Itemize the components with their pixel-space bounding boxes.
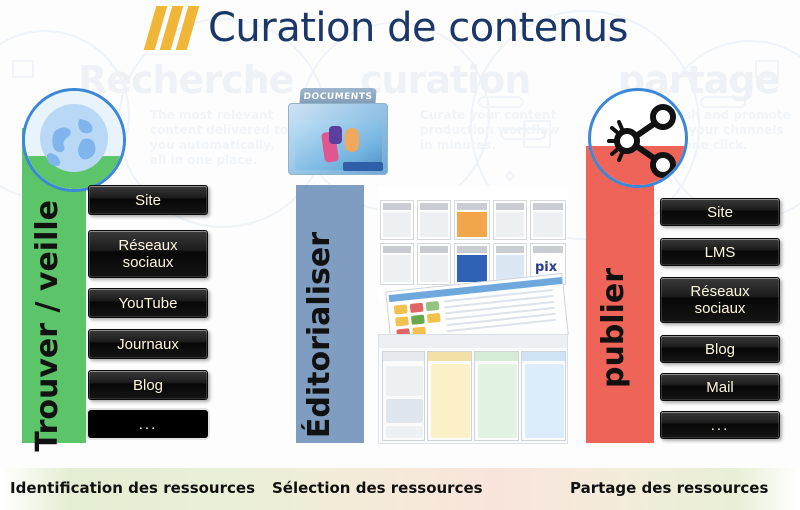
button-publier-more[interactable]: ... [660, 411, 780, 439]
board-bottom-header [379, 335, 567, 348]
button-label: Blog [701, 341, 739, 358]
documents-folder-icon: DOCUMENTS [286, 88, 390, 180]
button-trouver-blog[interactable]: Blog [88, 370, 208, 400]
share-nodes-icon [588, 88, 688, 188]
resource-board-collage: pix [378, 186, 568, 444]
slashes-logo-icon [150, 6, 198, 50]
button-label: Journaux [113, 336, 183, 353]
button-publier-reseaux-sociaux[interactable]: Réseaux sociaux [660, 277, 780, 323]
board-bottom [378, 334, 568, 444]
button-trouver-journaux[interactable]: Journaux [88, 329, 208, 359]
button-publier-mail[interactable]: Mail [660, 373, 780, 401]
button-label: Mail [702, 379, 738, 396]
button-label: YouTube [115, 295, 182, 312]
button-label: ... [707, 417, 734, 434]
button-publier-blog[interactable]: Blog [660, 335, 780, 363]
button-label: LMS [701, 244, 740, 261]
button-trouver-more[interactable]: ... [88, 410, 208, 438]
button-label: Site [131, 192, 165, 209]
band-label-partage: Partage des ressources [570, 479, 768, 497]
button-publier-site[interactable]: Site [660, 198, 780, 226]
button-label: Blog [129, 377, 167, 394]
decorative-square [12, 60, 34, 78]
column-label-trouver: Trouver / veille [30, 200, 65, 452]
button-trouver-site[interactable]: Site [88, 185, 208, 215]
button-label: Réseaux sociaux [114, 237, 181, 271]
watermark-subtext-curation: Curate your content production workflow … [420, 108, 570, 153]
bottom-band: Identification des ressources Sélection … [0, 468, 800, 510]
globe-search-icon [22, 88, 126, 192]
band-label-selection: Sélection des ressources [272, 479, 483, 497]
column-label-editorialiser: Éditorialiser [302, 232, 337, 438]
button-publier-lms[interactable]: LMS [660, 238, 780, 266]
page-title: Curation de contenus [208, 5, 628, 51]
column-label-publier: publier [596, 268, 631, 388]
button-trouver-reseaux-sociaux[interactable]: Réseaux sociaux [88, 230, 208, 278]
band-label-identification: Identification des ressources [10, 479, 255, 497]
watermark-subtext-recherche: The most relevant content delivered to y… [150, 108, 300, 168]
button-trouver-youtube[interactable]: YouTube [88, 288, 208, 318]
button-label: Site [703, 204, 737, 221]
button-label: ... [135, 416, 162, 433]
button-label: Réseaux sociaux [686, 283, 753, 317]
title-row: Curation de contenus [150, 5, 628, 51]
